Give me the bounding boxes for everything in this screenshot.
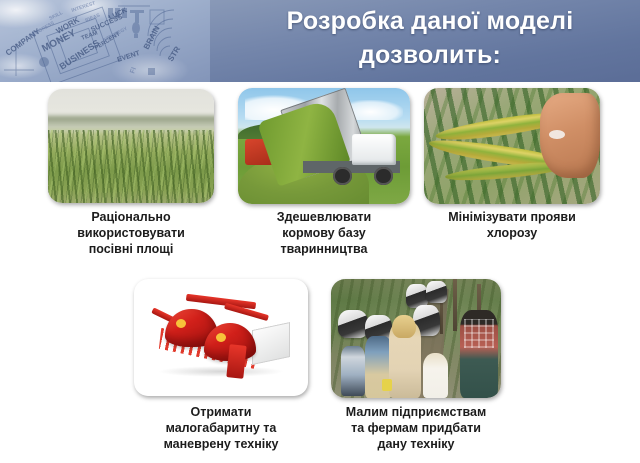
benefit-caption-compact-machinery: Отримати малогабаритну та маневрену техн… [131,404,311,452]
harvester-frame-bar [186,294,256,309]
benefit-card-cheaper-feed [238,88,410,204]
truck-wheel-shape [374,167,393,186]
benefit-caption-minimize-chlorosis: Мінімізувати прояви хлорозу [422,209,602,241]
person-toddler-shape [423,353,449,398]
benefit-card-rational-use [48,89,214,203]
tree-shape [453,279,456,331]
truck-wheel-shape [333,167,352,186]
benefit-caption-rational-use: Раціонально використовувати посівні площ… [41,209,221,257]
bucket-shape [382,379,392,391]
silage-truck-photo [238,88,410,204]
red-harvester-header-photo [134,279,308,396]
benefit-card-minimize-chlorosis [424,88,600,204]
hair-shape [392,315,416,339]
truck-cab-shape [352,134,397,164]
caption-line: Здешевлювати [234,209,414,225]
benefit-caption-small-farms: Малим підприємствам та фермам придбати д… [326,404,506,452]
caption-line: маневрену техніку [131,436,311,452]
caption-line: кормову базу [234,225,414,241]
header-banner: COMPANY MONEY WORK BUSINESS SUCCESS LUCK… [0,0,640,82]
page-title-line-1: Розробка даної моделі [228,4,632,38]
caption-line: посівні площі [41,241,221,257]
farm-family-with-cows-photo [331,279,501,398]
svg-text:STRATEGY: STRATEGY [102,26,129,44]
drop-shadow-shape [158,366,283,378]
caption-line: Раціонально [41,209,221,225]
cow-shape [338,310,369,339]
cow-shape [406,284,428,308]
caption-line: малогабаритну та [131,420,311,436]
svg-text:BRAIN: BRAIN [142,24,162,51]
svg-text:EVENT: EVENT [116,50,141,64]
chlorotic-corn-leaves-photo [424,88,600,204]
caption-line: тваринництва [234,241,414,257]
caption-line: використовувати [41,225,221,241]
person-child-shape [341,346,365,396]
svg-text:INTEREST: INTEREST [71,1,96,14]
caption-line: Малим підприємствам [326,404,506,420]
page-title-line-2: дозволить: [228,38,632,72]
benefit-caption-cheaper-feed: Здешевлювати кормову базу тваринництва [234,209,414,257]
svg-text:FI: FI [129,66,138,74]
svg-text:STR: STR [166,45,182,64]
cow-shape [426,281,446,302]
page-title: Розробка даної моделі дозволить: [228,4,632,72]
fingernail-shape [549,130,565,139]
decorative-business-collage: COMPANY MONEY WORK BUSINESS SUCCESS LUCK… [0,0,210,82]
caption-line: дану техніку [326,436,506,452]
corn-field-photo [48,89,214,203]
caption-line: та фермам придбати [326,420,506,436]
word-cloud-graphic: COMPANY MONEY WORK BUSINESS SUCCESS LUCK… [0,0,210,82]
harvester-side-panel [252,322,290,365]
benefit-card-small-farms [331,279,501,398]
caption-line: хлорозу [422,225,602,241]
caption-line: Мінімізувати прояви [422,209,602,225]
plaid-pattern-shape [464,319,495,348]
svg-text:SKILL: SKILL [48,10,64,22]
caption-line: Отримати [131,404,311,420]
benefit-card-compact-machinery [134,279,308,396]
svg-text:IDEAS: IDEAS [85,12,102,24]
